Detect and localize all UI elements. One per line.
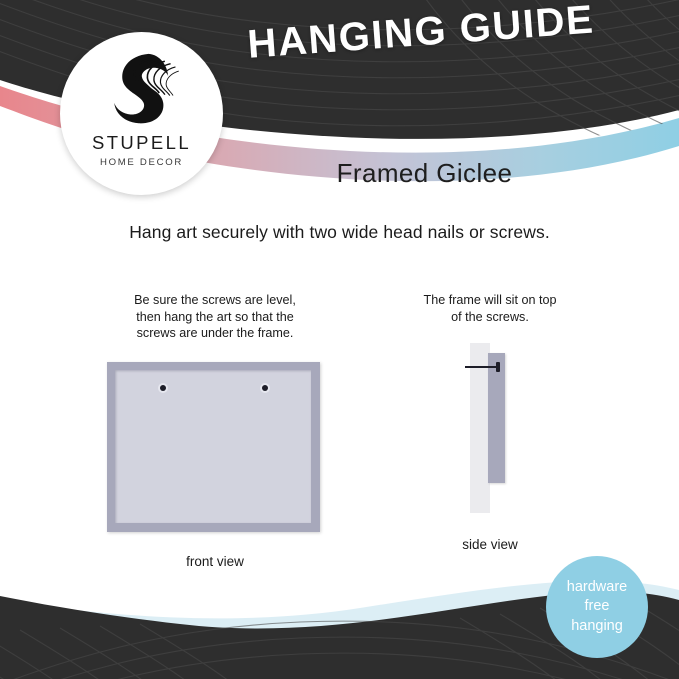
- badge-line-3: hanging: [571, 617, 623, 637]
- brand-logo-badge: STUPELL HOME DECOR: [60, 32, 223, 195]
- intro-instruction: Hang art securely with two wide head nai…: [0, 222, 679, 243]
- front-caption-line-1: Be sure the screws are level,: [90, 292, 340, 309]
- picture-frame-outer: [107, 362, 320, 532]
- screw-dot-right-icon: [262, 385, 268, 391]
- side-caption-line-2: of the screws.: [395, 309, 585, 326]
- picture-frame-inner: [115, 370, 311, 523]
- wall-profile: [470, 343, 490, 513]
- brand-tagline: HOME DECOR: [100, 157, 183, 168]
- hanging-guide-page: STUPELL HOME DECOR HANGING GUIDE Framed …: [0, 0, 679, 679]
- swirl-logo-icon: [101, 49, 183, 129]
- side-caption-line-1: The frame will sit on top: [395, 292, 585, 309]
- screw-dot-left-icon: [160, 385, 166, 391]
- side-view-illustration: [395, 338, 585, 528]
- side-view-column: The frame will sit on top of the screws.…: [395, 292, 585, 552]
- hardware-free-hanging-badge: hardware free hanging: [546, 556, 648, 658]
- page-title: HANGING GUIDE: [246, 0, 596, 68]
- badge-line-2: free: [585, 597, 610, 617]
- side-view-label: side view: [395, 537, 585, 552]
- front-view-column: Be sure the screws are level, then hang …: [90, 292, 340, 569]
- diagram-area: Be sure the screws are level, then hang …: [0, 292, 679, 582]
- frame-profile: [488, 353, 505, 483]
- badge-line-1: hardware: [567, 578, 627, 598]
- screw-shaft-icon: [465, 366, 499, 368]
- front-view-label: front view: [90, 554, 340, 569]
- screw-head-icon: [496, 362, 500, 372]
- front-caption-line-2: then hang the art so that the: [90, 309, 340, 326]
- front-view-illustration: [90, 355, 340, 545]
- front-caption-line-3: screws are under the frame.: [90, 325, 340, 342]
- brand-name: STUPELL: [92, 132, 191, 154]
